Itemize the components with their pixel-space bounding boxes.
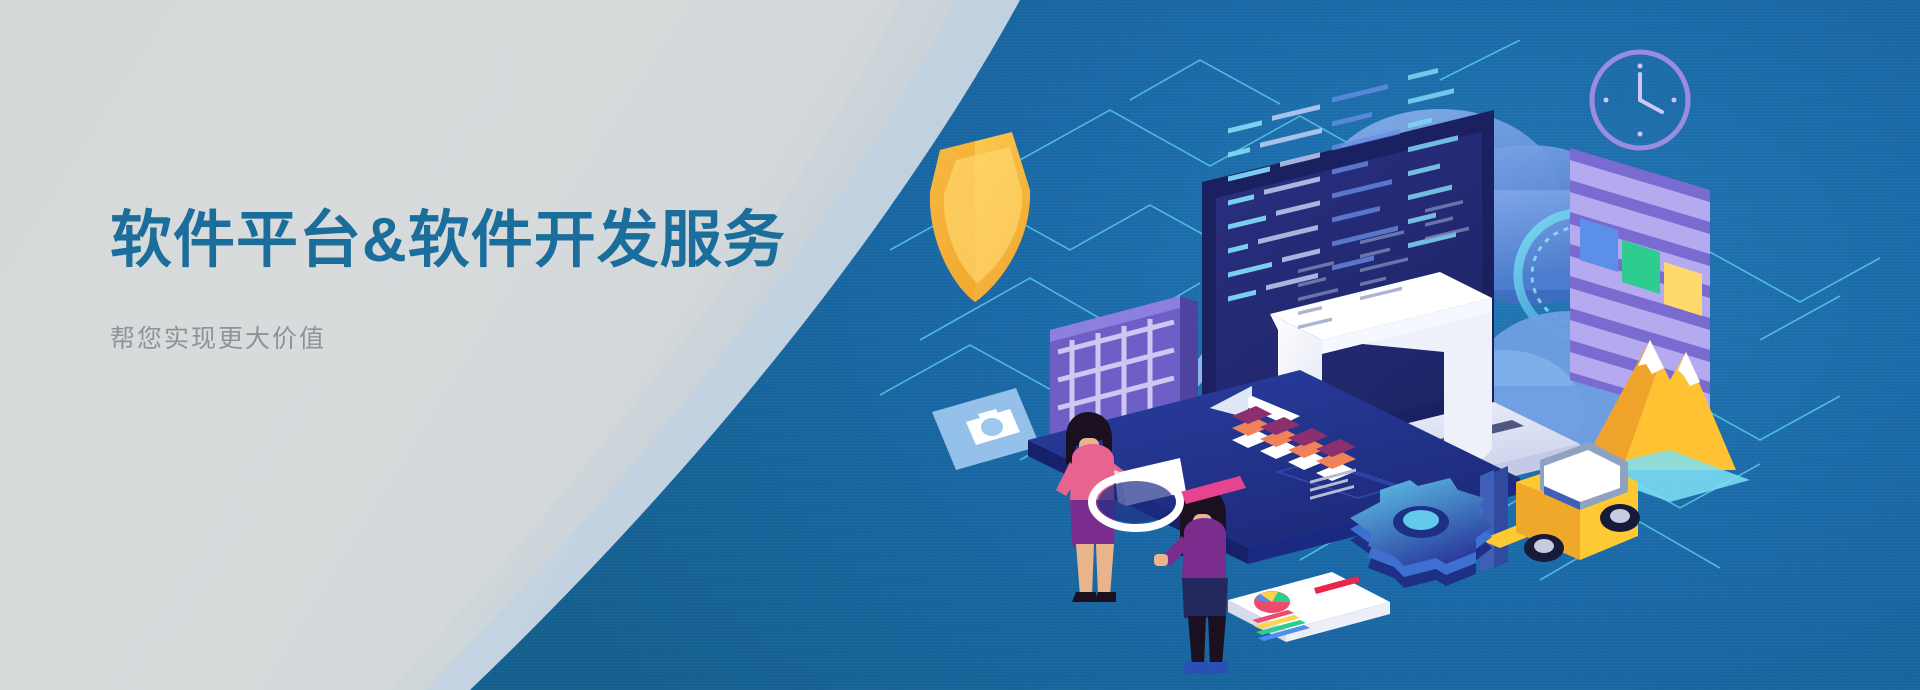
hero-banner: 软件平台&软件开发服务 帮您实现更大价值 bbox=[0, 0, 1920, 690]
page-subtitle: 帮您实现更大价值 bbox=[110, 319, 870, 355]
page-title: 软件平台&软件开发服务 bbox=[110, 206, 870, 275]
hero-illustration bbox=[880, 40, 1920, 690]
inspector-person-with-magnifier bbox=[1092, 476, 1246, 674]
report-pie-chart bbox=[1254, 591, 1290, 613]
wall-clock-icon bbox=[1592, 52, 1688, 148]
security-shield-icon bbox=[930, 132, 1030, 302]
hero-copy: 软件平台&软件开发服务 帮您实现更大价值 bbox=[110, 206, 870, 355]
